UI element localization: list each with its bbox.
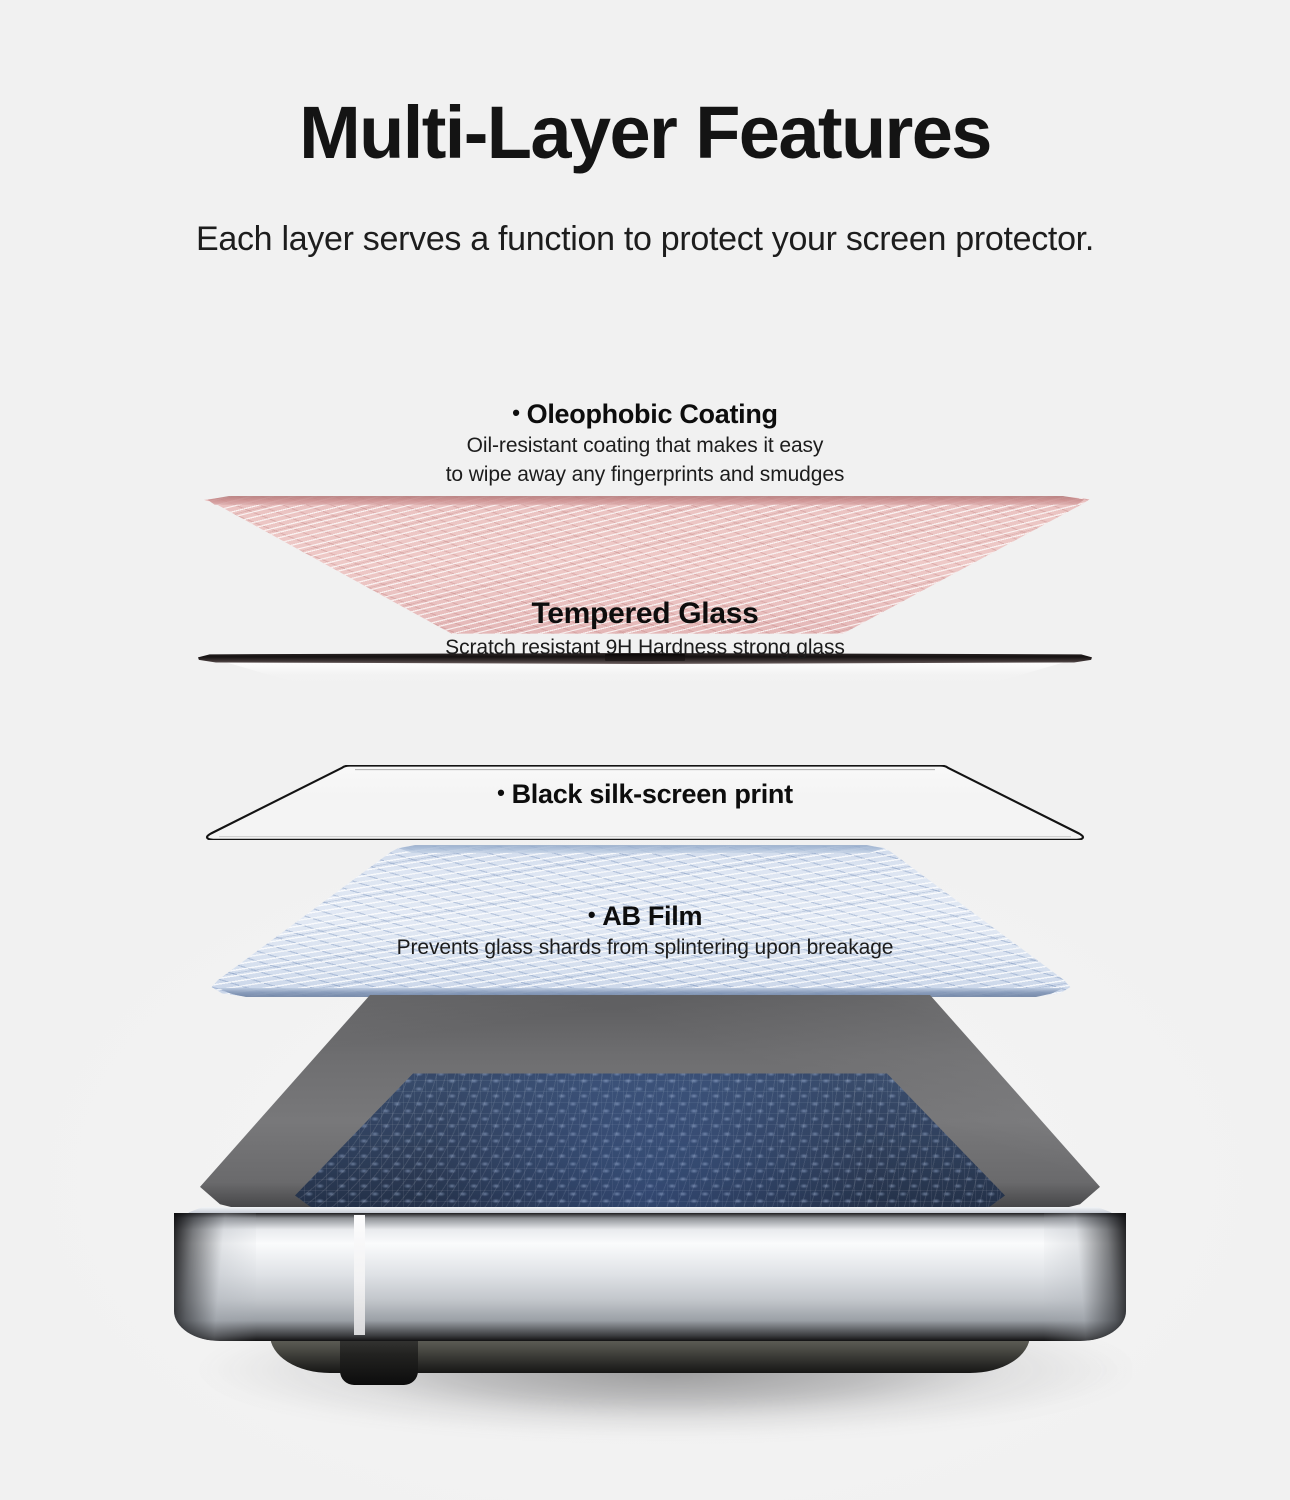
- header: Multi-Layer Features Each layer serves a…: [0, 96, 1290, 256]
- label-black-silk-screen-print: •Black silk-screen print: [0, 778, 1290, 811]
- oleophobic-desc-line-1: Oil-resistant coating that makes it easy: [0, 431, 1290, 460]
- device-smartphone: [150, 995, 1150, 1415]
- oleophobic-title: Oleophobic Coating: [527, 399, 778, 429]
- page-title: Multi-Layer Features: [0, 96, 1290, 170]
- device-frame-corner-left: [174, 1213, 256, 1341]
- ab-film-title-row: •AB Film: [0, 900, 1290, 933]
- device-frame-corner-right: [1044, 1213, 1126, 1341]
- tempered-glass-desc: Scratch resistant 9H Hardness strong gla…: [0, 633, 1290, 662]
- infographic-stage: Multi-Layer Features Each layer serves a…: [0, 0, 1290, 1500]
- ab-film-desc: Prevents glass shards from splintering u…: [0, 933, 1290, 962]
- device-screen-reflection: [150, 995, 1150, 1213]
- tempered-glass-title: Tempered Glass: [0, 596, 1290, 633]
- tempered-glass-underglow: [225, 662, 1065, 684]
- ab-film-top-edge: [393, 845, 890, 853]
- label-oleophobic-coating: •Oleophobic Coating Oil-resistant coatin…: [0, 398, 1290, 490]
- label-tempered-glass: Tempered Glass Scratch resistant 9H Hard…: [0, 596, 1290, 662]
- silk-screen-title-row: •Black silk-screen print: [0, 778, 1290, 811]
- bullet-icon: •: [497, 780, 504, 805]
- bullet-icon: •: [512, 400, 519, 425]
- oleophobic-title-row: •Oleophobic Coating: [0, 398, 1290, 431]
- label-ab-film: •AB Film Prevents glass shards from spli…: [0, 900, 1290, 962]
- silk-screen-title: Black silk-screen print: [512, 779, 793, 809]
- bullet-icon: •: [588, 902, 595, 927]
- page-subtitle: Each layer serves a function to protect …: [0, 170, 1290, 256]
- device-chrome-frame: [174, 1213, 1126, 1341]
- oleophobic-desc-line-2: to wipe away any fingerprints and smudge…: [0, 460, 1290, 489]
- device-antenna-band: [354, 1215, 365, 1335]
- oleophobic-top-edge: [208, 496, 1085, 505]
- ab-film-title: AB Film: [602, 901, 702, 931]
